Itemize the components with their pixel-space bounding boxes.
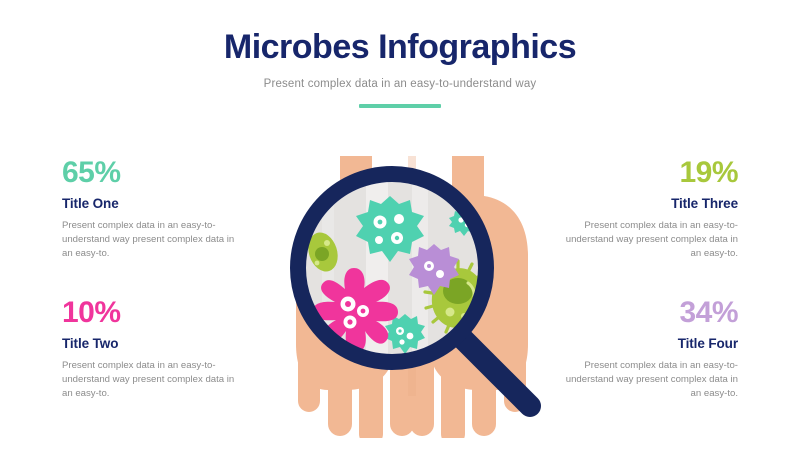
stat-description-four: Present complex data in an easy-to-under… xyxy=(558,359,738,401)
infographic-slide: Microbes Infographics Present complex da… xyxy=(0,0,800,450)
title-divider xyxy=(359,104,441,108)
stat-block-two: 10% Title Two Present complex data in an… xyxy=(62,298,242,401)
stat-block-four: 34% Title Four Present complex data in a… xyxy=(558,298,738,401)
stat-block-three: 19% Title Three Present complex data in … xyxy=(558,158,738,261)
stat-value-two: 10% xyxy=(62,298,242,328)
stat-title-three: Title Three xyxy=(558,196,738,211)
header: Microbes Infographics Present complex da… xyxy=(0,30,800,108)
stat-title-two: Title Two xyxy=(62,336,242,351)
stat-title-four: Title Four xyxy=(558,336,738,351)
page-title: Microbes Infographics xyxy=(0,30,800,66)
stat-description-three: Present complex data in an easy-to-under… xyxy=(558,219,738,261)
stat-description-one: Present complex data in an easy-to-under… xyxy=(62,219,242,261)
hands-microbes-illustration xyxy=(262,138,562,438)
stat-title-one: Title One xyxy=(62,196,242,211)
stat-value-one: 65% xyxy=(62,158,242,188)
stat-description-two: Present complex data in an easy-to-under… xyxy=(62,359,242,401)
stat-value-three: 19% xyxy=(558,158,738,188)
stat-block-one: 65% Title One Present complex data in an… xyxy=(62,158,242,261)
page-subtitle: Present complex data in an easy-to-under… xyxy=(0,78,800,90)
stat-value-four: 34% xyxy=(558,298,738,328)
